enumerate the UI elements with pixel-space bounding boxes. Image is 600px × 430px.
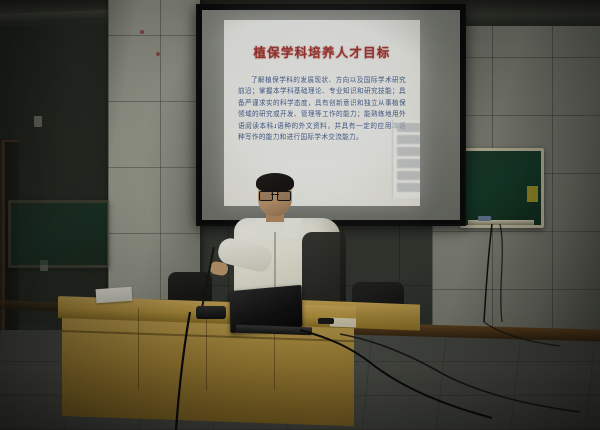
podium-seam [206, 308, 207, 390]
wall-poster [527, 186, 538, 202]
presenter-hair [256, 173, 294, 192]
sidebar-row [397, 147, 420, 156]
column-tile-grid [108, 0, 200, 300]
sidebar-row [397, 159, 420, 168]
papers-on-podium [96, 287, 133, 303]
slide-body-text: 了解植保学科的发展现状、方向以及国际学术研究前沿；掌握本学科基础理论、专业知识和… [238, 75, 406, 143]
podium-seam [138, 308, 139, 390]
sidebar-row [397, 135, 420, 144]
column-mark [140, 30, 144, 34]
column-mark-2 [156, 52, 160, 56]
slide-title: 植保学科培养人才目标 [224, 42, 420, 61]
sidebar-row [397, 123, 420, 132]
chalk-eraser [478, 216, 491, 221]
eyeglasses-icon [259, 191, 291, 199]
wall-outlet-left [34, 116, 42, 127]
sidebar-row [397, 171, 420, 180]
wall-column [108, 0, 200, 300]
presenter-sidebar-overlay [392, 120, 420, 198]
lens-left [259, 191, 273, 201]
remote-device [318, 318, 334, 324]
lecture-hall-photo: 植保学科培养人才目标 了解植保学科的发展现状、方向以及国际学术研究前沿；掌握本学… [0, 0, 600, 430]
lens-right [277, 191, 291, 201]
microphone-base [196, 306, 226, 319]
left-wall-dark [0, 24, 112, 324]
blackboard-left [8, 200, 110, 268]
sidebar-row [397, 183, 420, 192]
